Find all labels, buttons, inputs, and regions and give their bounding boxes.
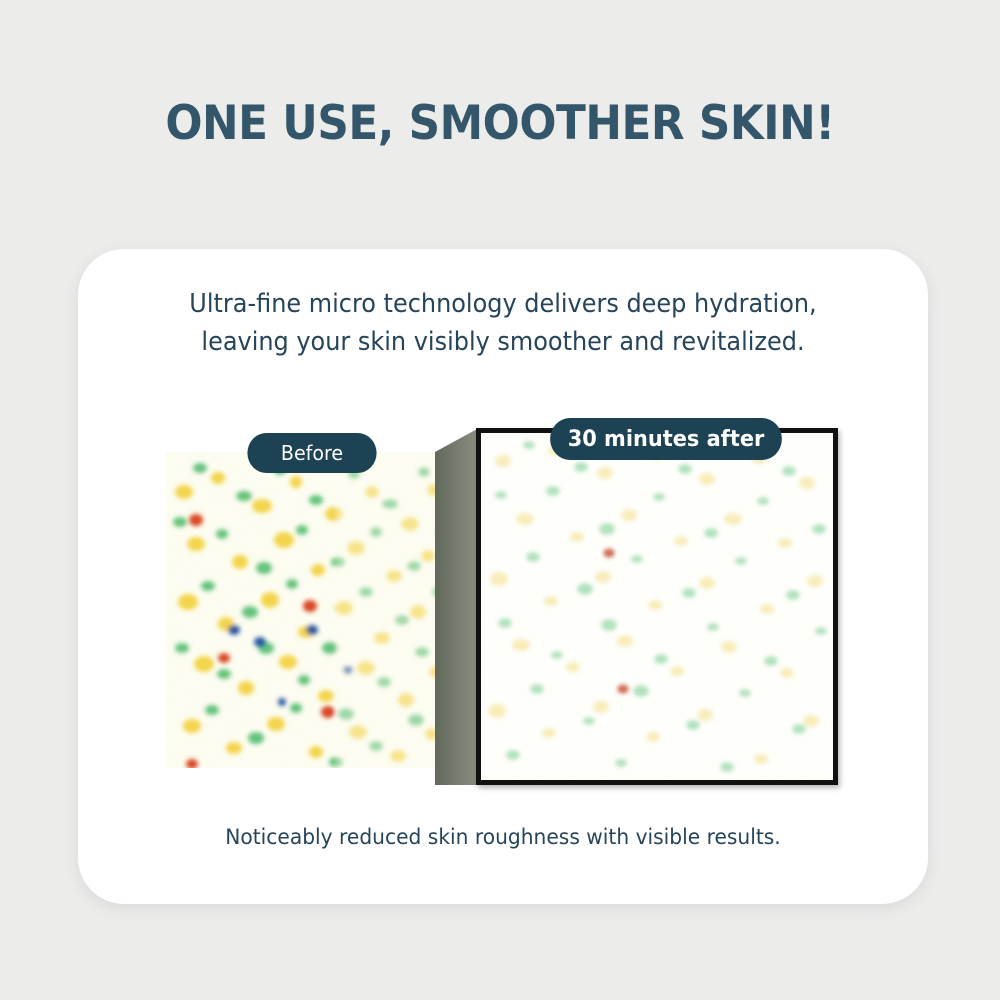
badge-after-label: 30 minutes after — [568, 427, 765, 452]
after-skin-texture-image — [476, 428, 838, 785]
comparison-card: Ultra-fine micro technology delivers dee… — [78, 249, 928, 904]
card-caption: Noticeably reduced skin roughness with v… — [104, 825, 903, 850]
badge-after: 30 minutes after — [550, 418, 782, 460]
badge-before-label: Before — [281, 441, 343, 465]
3d-block-side-face — [435, 428, 479, 785]
card-intro-text: Ultra-fine micro technology delivers dee… — [104, 285, 903, 361]
card-intro-line-1: Ultra-fine micro technology delivers dee… — [189, 289, 816, 319]
card-intro-line-2: leaving your skin visibly smoother and r… — [104, 323, 903, 361]
before-texture-graphic — [166, 452, 451, 768]
before-skin-texture-image — [166, 452, 451, 768]
badge-before: Before — [247, 433, 376, 473]
page-title: ONE USE, SMOOTHER SKIN! — [35, 96, 965, 151]
after-texture-graphic — [481, 433, 833, 780]
